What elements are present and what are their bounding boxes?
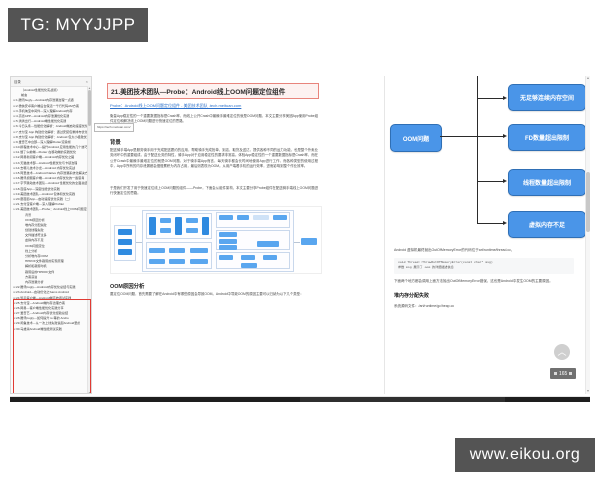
figure-node	[118, 229, 132, 235]
scroll-down-icon[interactable]: ▼	[586, 389, 590, 394]
vm-oom-paragraph: Android 虚拟机最终抛出OutOfMemoryError的代码位于art/…	[394, 248, 574, 253]
page-indicator[interactable]: 165	[550, 368, 576, 379]
figure-node	[149, 248, 165, 253]
scroll-down-icon[interactable]: ▼	[88, 391, 91, 394]
horizontal-scrollbar[interactable]	[10, 396, 590, 402]
page-title: 21.美团技术团队—Probe：Android线上OOM问题定位组件	[107, 83, 319, 99]
figure-node	[202, 217, 209, 235]
watermark-top-tg: TG: MYYJJPP	[8, 8, 148, 42]
figure-node	[190, 259, 208, 264]
code-block: void Thread::ThrowOutOfMemoryError(const…	[394, 258, 574, 274]
main-scrollbar-thumb[interactable]	[586, 172, 590, 232]
page-next-icon[interactable]	[569, 372, 572, 375]
flow-node-branch-1: 无足够连续内存空间	[508, 84, 586, 111]
flow-arrow-icon	[503, 221, 507, 225]
toc-item-label: 30.马蜂窝Android端性能测试实践	[16, 327, 62, 332]
figure-node	[175, 217, 182, 235]
document-viewer: 目录 × （Android性能优化实战篇）前言⊞1.腾讯bugly—Androi…	[10, 76, 590, 396]
figure-node	[263, 255, 277, 260]
figure-node	[160, 218, 171, 223]
figure-node	[219, 232, 237, 237]
figure-node	[241, 263, 257, 268]
flow-connector	[440, 136, 478, 137]
watermark-bottom-site: www.eikou.org	[455, 438, 595, 472]
flow-arrow-icon	[503, 134, 507, 138]
flow-node-root: OOM问题	[390, 124, 442, 152]
flow-connector	[477, 136, 503, 137]
toc-header: 目录 ×	[11, 77, 91, 87]
figure-node	[219, 215, 233, 220]
flow-connector	[477, 223, 503, 224]
background-paragraph-1: 配送骑手端App是服务骑手用于完成配送履约的应用，帮助骑手完成抢单、到店、取货及…	[110, 148, 318, 169]
flow-arrow-icon	[503, 179, 507, 183]
figure-node	[186, 218, 198, 223]
oom-cause-paragraph: 要定位OOM问题，首先需要了解在Android中有哪些原因会导致OOM。Andr…	[110, 292, 318, 297]
flow-node-branch-3: 线程数量超出限制	[508, 169, 586, 196]
toc-title: 目录	[14, 79, 21, 84]
screenshot-root: TG: MYYJJPP 目录 × （Android性能优化实战篇）前言⊞1.腾讯…	[0, 0, 600, 480]
scroll-to-top-button[interactable]: ︿	[554, 344, 570, 360]
section-heading-background: 背景	[110, 138, 121, 146]
page-prev-icon[interactable]	[554, 372, 557, 375]
toc-scrollbar[interactable]: ▲ ▼	[87, 86, 91, 394]
figure-node	[169, 259, 185, 264]
figure-node	[237, 215, 249, 220]
article-column: 21.美团技术团队—Probe：Android线上OOM问题定位组件 Probe…	[94, 76, 385, 394]
intro-paragraph: 衡量App稳定性的一个重要数据指标是Crash率，而线上公开Crash中最棘手最…	[110, 114, 318, 125]
page-number: 165	[559, 371, 567, 377]
toc-item[interactable]: ⊞30.马蜂窝Android端性能测试实践	[13, 327, 89, 332]
horizontal-scrollbar-thumb[interactable]	[300, 397, 505, 402]
link-tooltip: https://tech.meituan.com/	[94, 123, 134, 132]
flow-arrow-icon	[503, 96, 507, 100]
source-link[interactable]: Probe：Android线上OOM问题定位组件 - 美团技术团队 .tech.…	[110, 103, 241, 109]
figure-node	[160, 228, 171, 233]
flowchart-column: OOM问题 无足够连续内存空间 FD数量超出限制 线程数量超出限制 虚拟内存不足…	[386, 76, 590, 394]
figure-node	[219, 245, 237, 250]
flow-connector	[477, 181, 503, 182]
figure-node	[169, 248, 185, 253]
figure-node	[253, 215, 269, 220]
background-paragraph-2: 于是我们开发了用于快速定位线上OOM问题的组件——Probe，下面会从组件架构、…	[110, 186, 318, 197]
architecture-figure	[110, 206, 322, 274]
figure-node	[149, 259, 165, 264]
flow-connector	[477, 98, 503, 99]
scroll-up-icon[interactable]: ▲	[586, 76, 590, 81]
figure-connector	[294, 242, 300, 243]
table-of-contents-panel[interactable]: 目录 × （Android性能优化实战篇）前言⊞1.腾讯bugly—Androi…	[10, 76, 92, 394]
figure-node	[118, 239, 132, 245]
section-heading-oom-cause: OOM原因分析	[110, 282, 144, 290]
oom-reasons-paragraph: 下面两个地方都会调用上面方法抛出OutOfMemoryError错误，这也是An…	[394, 279, 574, 284]
code-line-2: 参数 msg 展示了 oom 的详细描述信息	[398, 265, 570, 270]
figure-node	[219, 255, 233, 260]
figure-node	[241, 255, 255, 260]
close-icon[interactable]: ×	[86, 79, 88, 84]
figure-node	[257, 241, 279, 247]
figure-node	[219, 239, 237, 244]
toc-scrollbar-thumb[interactable]	[88, 90, 91, 126]
figure-node	[186, 228, 198, 233]
figure-node	[190, 248, 208, 253]
figure-node	[149, 217, 156, 235]
heading-heap-alloc-failure: 堆内存分配失败	[394, 292, 429, 299]
flow-node-branch-4: 虚拟内存不足	[508, 211, 586, 238]
figure-subgroup-b	[146, 242, 212, 269]
main-vertical-scrollbar[interactable]: ▲ ▼	[585, 76, 590, 394]
figure-node	[273, 215, 287, 220]
source-file-paragraph: 系统源码文件：/art/runtime/gc/heap.cc	[394, 304, 574, 309]
figure-node-output	[301, 238, 317, 245]
figure-node	[118, 249, 132, 255]
flow-node-branch-2: FD数量超出限制	[508, 124, 586, 151]
toc-list[interactable]: （Android性能优化实战篇）前言⊞1.腾讯bugly—Android内存泄漏…	[11, 87, 91, 332]
